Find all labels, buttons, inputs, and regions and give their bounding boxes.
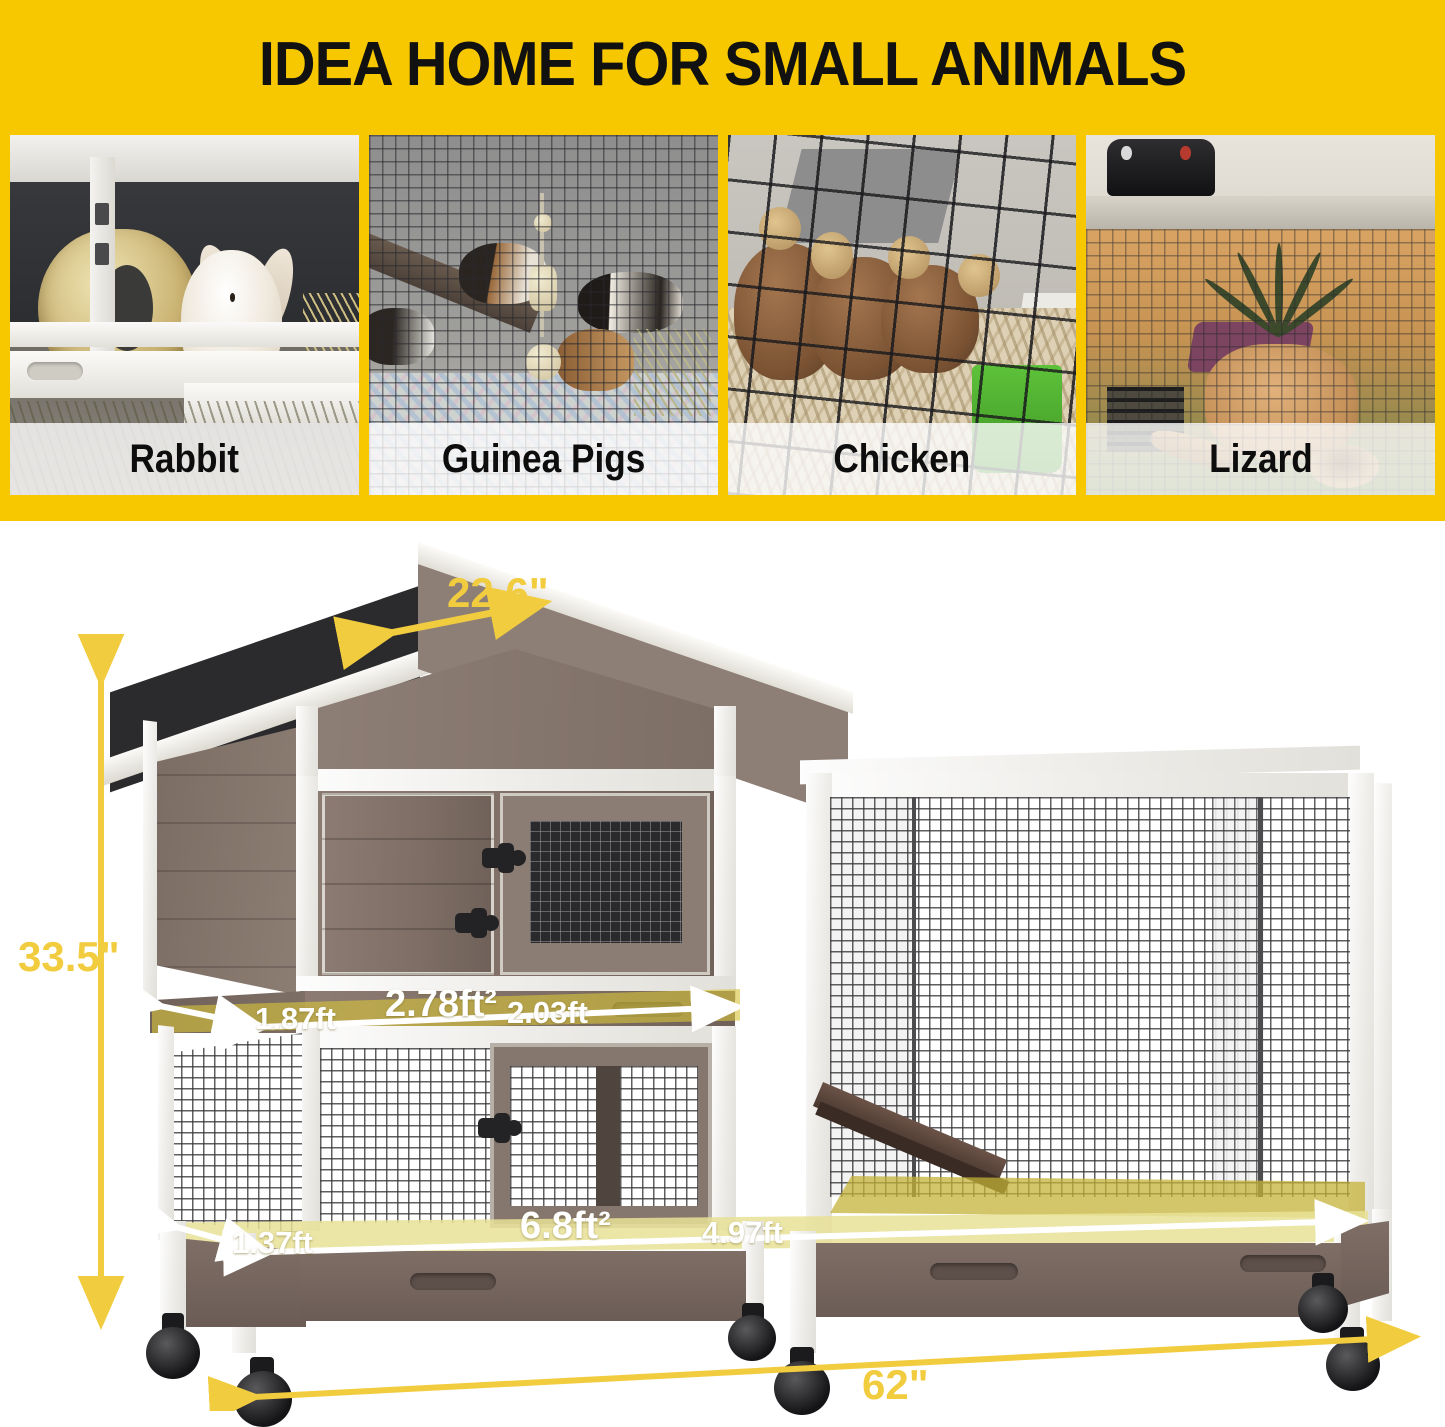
upper-width-label: 2.03ft [507, 995, 588, 1031]
photo-label-lizard: Lizard [1209, 437, 1313, 482]
height-dimension-label: 33.5" [18, 933, 120, 981]
photo-label-bar-guinea-pigs: Guinea Pigs [369, 423, 718, 495]
upper-depth-label: 1.87ft [255, 1001, 336, 1037]
page-title: IDEA HOME FOR SMALL ANIMALS [51, 34, 1395, 96]
upper-depth-arrow [160, 1006, 258, 1026]
hero-banner: IDEA HOME FOR SMALL ANIMALS [0, 0, 1445, 521]
photo-label-rabbit: Rabbit [130, 437, 240, 482]
width-arrow-line [254, 1337, 1412, 1397]
photo-label-bar-lizard: Lizard [1086, 423, 1435, 495]
photo-label-bar-rabbit: Rabbit [10, 423, 359, 495]
lower-width-label: 4.97ft [702, 1215, 783, 1251]
width-dimension-label: 62" [862, 1361, 929, 1409]
dimension-arrows [0, 521, 1445, 1411]
product-illustration: 22.6" 33.5" 62" 1.87ft 2.78ft² 2.03ft 1.… [0, 521, 1445, 1411]
photo-label-chicken: Chicken [833, 437, 970, 482]
photo-label-guinea-pigs: Guinea Pigs [441, 437, 644, 482]
photo-card-guinea-pigs[interactable]: Guinea Pigs [369, 135, 718, 495]
photo-card-chicken[interactable]: Chicken [728, 135, 1077, 495]
photo-card-lizard[interactable]: Lizard [1086, 135, 1435, 495]
lower-depth-label: 1.37ft [232, 1225, 313, 1261]
photo-label-bar-chicken: Chicken [728, 423, 1077, 495]
upper-area-label: 2.78ft² [385, 983, 497, 1026]
lower-width-arrow [268, 1221, 1360, 1252]
photo-card-rabbit[interactable]: Rabbit [10, 135, 359, 495]
lower-area-label: 6.8ft² [520, 1205, 611, 1248]
depth-dimension-label: 22.6" [447, 569, 549, 617]
animal-photo-strip: Rabbit Guinea Pigs [10, 135, 1435, 495]
